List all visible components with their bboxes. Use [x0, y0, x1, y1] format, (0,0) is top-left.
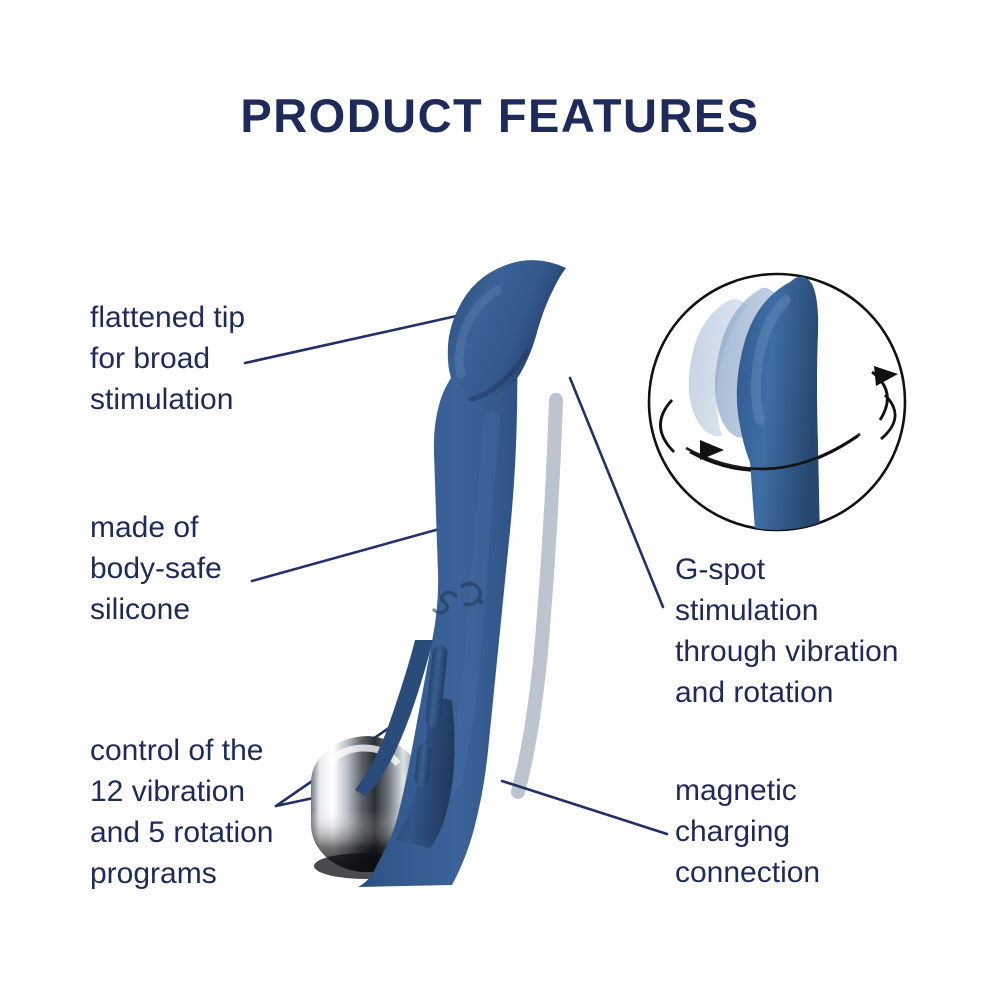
leader-line-magnetic [502, 781, 667, 834]
callout-body-safe-silicone: made of body-safe silicone [90, 507, 360, 630]
callout-controls: control of the 12 vibration and 5 rotati… [90, 730, 380, 894]
callout-flattened-tip: flattened tip for broad stimulation [90, 297, 360, 420]
product-features-infographic: PRODUCT FEATURES [0, 0, 1000, 1000]
callout-magnetic-charging: magnetic charging connection [675, 770, 945, 893]
rotation-detail-inset [649, 274, 905, 544]
callout-g-spot: G-spot stimulation through vibration and… [675, 549, 975, 713]
